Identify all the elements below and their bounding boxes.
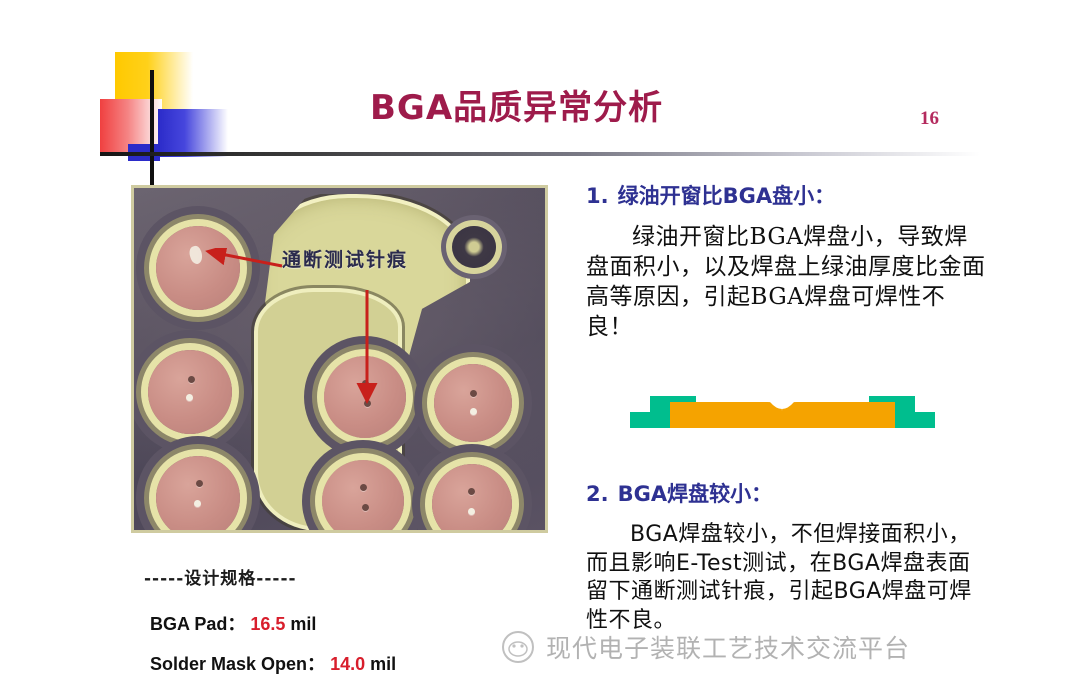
section-2-number: 2. bbox=[586, 482, 609, 506]
spec-row-bga-pad: BGA Pad： 16.5 mil bbox=[150, 610, 316, 636]
spec-label: BGA Pad： bbox=[150, 614, 245, 634]
spec-unit: mil bbox=[290, 614, 316, 634]
spec-label: Solder Mask Open： bbox=[150, 654, 325, 674]
via-hole bbox=[452, 226, 496, 268]
section-1-heading-text: 绿油开窗比BGA盘小： bbox=[618, 184, 836, 208]
spec-row-solder-mask-open: Solder Mask Open： 14.0 mil bbox=[150, 650, 396, 676]
bga-pad bbox=[156, 456, 240, 533]
page-number: 16 bbox=[920, 108, 939, 130]
section-1-body: 绿油开窗比BGA焊盘小，导致焊盘面积小，以及焊盘上绿油厚度比金面高等原因，引起B… bbox=[586, 223, 986, 343]
logo-vertical-rule bbox=[150, 70, 154, 202]
section-2-body: BGA焊盘较小，不但焊接面积小，而且影响E-Test测试，在BGA焊盘表面留下通… bbox=[586, 521, 986, 635]
section-2-heading-text: BGA焊盘较小： bbox=[618, 482, 773, 506]
annotation-arrow-left bbox=[202, 248, 284, 270]
section-1-heading: 1.绿油开窗比BGA盘小： bbox=[586, 180, 986, 210]
annotation-arrow-down bbox=[356, 288, 378, 408]
spec-heading: -----设计规格----- bbox=[144, 564, 297, 589]
section-2-heading: 2.BGA焊盘较小： bbox=[586, 478, 986, 508]
spec-value: 14.0 bbox=[330, 654, 365, 674]
bga-micrograph-image: 通断测试针痕 bbox=[131, 185, 548, 533]
watermark-logo-icon bbox=[500, 629, 536, 665]
slide-canvas: BGA品质异常分析 16 bbox=[0, 0, 1080, 689]
spec-unit: mil bbox=[370, 654, 396, 674]
section-2: 2.BGA焊盘较小： BGA焊盘较小，不但焊接面积小，而且影响E-Test测试，… bbox=[586, 478, 986, 635]
page-title: BGA品质异常分析 bbox=[370, 80, 790, 129]
spec-value: 16.5 bbox=[250, 614, 285, 634]
section-1: 1.绿油开窗比BGA盘小： 绿油开窗比BGA焊盘小，导致焊盘面积小，以及焊盘上绿… bbox=[586, 180, 986, 343]
header-horizontal-rule bbox=[100, 152, 980, 156]
section-1-number: 1. bbox=[586, 184, 609, 208]
bga-pad bbox=[322, 460, 404, 533]
bga-pad bbox=[434, 364, 512, 442]
pad-cross-section-diagram bbox=[630, 386, 935, 434]
bga-pad bbox=[148, 350, 232, 434]
decorative-logo-mark bbox=[100, 52, 230, 167]
logo-blue-block bbox=[158, 109, 228, 157]
annotation-label: 通断测试针痕 bbox=[282, 245, 408, 272]
